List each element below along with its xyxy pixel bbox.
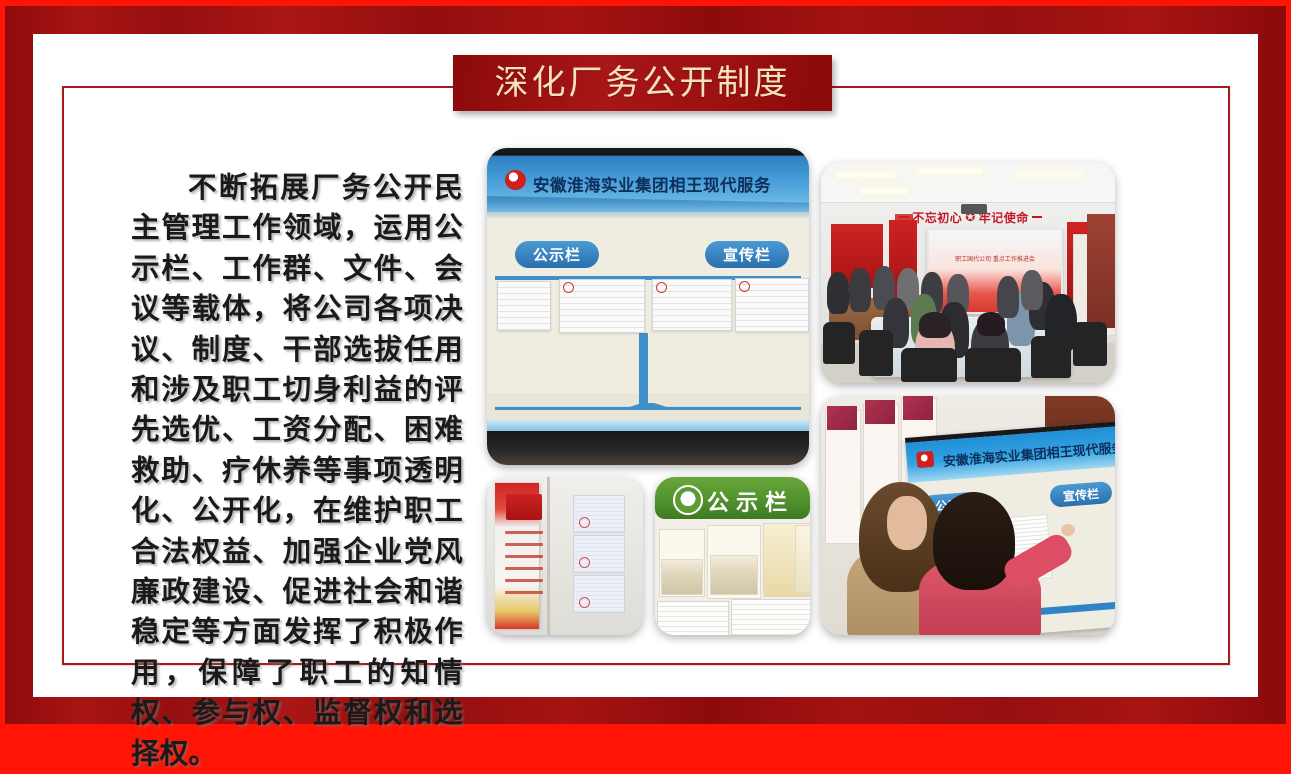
photo3-document bbox=[573, 575, 625, 613]
photo5-wall-card bbox=[825, 410, 861, 544]
photo4-poster bbox=[795, 525, 810, 593]
photo-employees-reading-board: 安徽淮海实业集团相王现代服务有限公司 公示栏 宣传栏 bbox=[821, 396, 1115, 635]
title-banner: 深化厂务公开制度 bbox=[453, 55, 832, 111]
photo4-emblem-icon bbox=[673, 485, 703, 515]
photo5-wall-card-header bbox=[865, 400, 895, 424]
page-title: 深化厂务公开制度 bbox=[495, 66, 791, 100]
photo2-chair bbox=[1073, 322, 1107, 366]
photo5-person-left-face bbox=[887, 496, 927, 550]
slogan-bar-icon bbox=[1032, 216, 1042, 218]
photo3-red-banner bbox=[495, 483, 539, 629]
red-seal-icon bbox=[563, 282, 574, 293]
photo3-banner-lines bbox=[505, 531, 543, 603]
photo4-poster-photo bbox=[710, 555, 758, 595]
photo2-person bbox=[849, 268, 871, 312]
company-logo-icon bbox=[916, 451, 934, 468]
photo1-label-xuanchuanlan: 宣传栏 bbox=[705, 241, 789, 268]
photo2-chair bbox=[859, 330, 893, 376]
ceiling-light-icon bbox=[861, 188, 907, 194]
photo3-banner-title-block bbox=[506, 494, 542, 520]
photo3-document bbox=[573, 535, 625, 573]
photo3-banner-line bbox=[505, 531, 543, 534]
ceiling-light-icon bbox=[837, 172, 895, 178]
photo2-chair bbox=[901, 348, 957, 382]
photo1-board-header-text: 安徽淮海实业集团相王现代服务 bbox=[533, 172, 809, 196]
photo4-form bbox=[731, 599, 810, 635]
red-seal-icon bbox=[739, 281, 750, 292]
red-seal-icon bbox=[579, 517, 590, 528]
body-paragraph: 不断拓展厂务公开民主管理工作领域，运用公示栏、工作群、文件、会议等载体，将公司各… bbox=[131, 168, 463, 774]
photo2-chair bbox=[1031, 336, 1071, 378]
photo-notice-board-large: 安徽淮海实业集团相王现代服务 公示栏 宣传栏 bbox=[487, 148, 809, 465]
photo3-banner-line bbox=[505, 567, 543, 570]
photo3-banner-line bbox=[505, 555, 543, 558]
slide-canvas: 深化厂务公开制度 不断拓展厂务公开民主管理工作领域，运用公示栏、工作群、文件、会… bbox=[0, 0, 1291, 731]
photo2-slogan-left: 不忘初心 bbox=[912, 209, 962, 226]
photo1-label-gongshilan: 公示栏 bbox=[515, 241, 599, 268]
ceiling-light-icon bbox=[917, 168, 983, 174]
photo4-poster-photo bbox=[661, 559, 703, 595]
photo2-person bbox=[997, 276, 1019, 318]
photo2-person bbox=[827, 272, 849, 314]
photo5-wall-card-header bbox=[903, 396, 933, 420]
projector-icon bbox=[961, 204, 987, 214]
photo5-label-xuanchuanlan: 宣传栏 bbox=[1049, 481, 1113, 508]
photo-meeting-room: 不忘初心 ✪ 牢记使命 职工国代公司 重点工作推进会 bbox=[821, 162, 1115, 383]
photo5-person-right-hair bbox=[933, 492, 1015, 590]
photo2-chair bbox=[823, 322, 855, 364]
red-seal-icon bbox=[656, 282, 667, 293]
ceiling-light-icon bbox=[1017, 171, 1081, 177]
photo-wall-documents bbox=[487, 477, 643, 635]
photo1-floor-shadow bbox=[487, 431, 809, 465]
photo1-blue-stem bbox=[639, 333, 648, 408]
photo3-wall-edge bbox=[547, 477, 550, 635]
photo3-banner-line bbox=[505, 591, 543, 594]
photo2-person bbox=[919, 312, 951, 338]
photo-green-notice-board: 公示栏 bbox=[655, 477, 810, 635]
photo2-chair bbox=[965, 348, 1021, 382]
photo4-form bbox=[657, 601, 729, 635]
company-logo-icon bbox=[505, 170, 526, 190]
photo2-screen-text: 职工国代公司 重点工作推进会 bbox=[936, 256, 1055, 264]
photo2-door bbox=[1087, 214, 1115, 328]
photo5-person-right-hand bbox=[1061, 524, 1075, 536]
red-seal-icon bbox=[579, 557, 590, 568]
photo4-header-text: 公示栏 bbox=[707, 485, 794, 517]
photo3-banner-line bbox=[505, 579, 543, 582]
photo5-wall-card-header bbox=[827, 406, 857, 430]
photo1-document bbox=[497, 281, 551, 331]
photo3-banner-line bbox=[505, 543, 543, 546]
photo3-document bbox=[573, 495, 625, 533]
red-seal-icon bbox=[579, 597, 590, 608]
photo2-person bbox=[1021, 270, 1043, 310]
